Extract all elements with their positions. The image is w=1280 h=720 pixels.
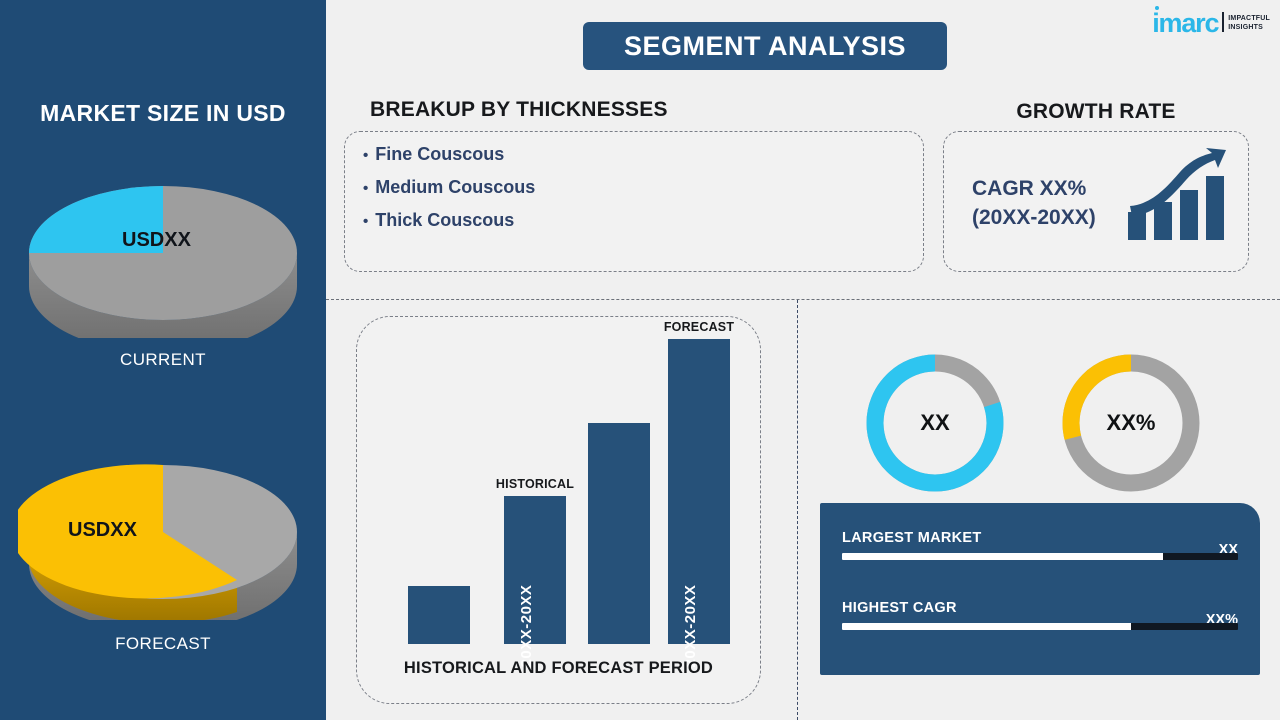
units-donut-label: XX: [860, 348, 1010, 498]
list-item-label: Medium Couscous: [375, 177, 535, 197]
market-size-sidebar: MARKET SIZE IN USD USDXX CURRENT: [0, 0, 326, 720]
share-donut: XX%: [1056, 348, 1206, 498]
sidebar-title: MARKET SIZE IN USD: [0, 100, 326, 127]
horizontal-divider: [326, 299, 1280, 300]
share-donut-label: XX%: [1056, 348, 1206, 498]
growth-rate-heading: GROWTH RATE: [941, 100, 1251, 124]
bar-period-label: 20XX-20XX: [518, 585, 535, 668]
stat-label: HIGHEST CAGR: [842, 600, 957, 616]
units-donut: XX: [860, 348, 1010, 498]
vertical-divider: [797, 300, 798, 720]
forecast-pie-caption: FORECAST: [0, 634, 326, 654]
list-item: • Medium Couscous: [363, 177, 535, 199]
breakup-list: • Fine Couscous • Medium Couscous • Thic…: [363, 144, 535, 243]
list-item-label: Fine Couscous: [375, 144, 504, 164]
market-stats-panel: LARGEST MARKET XX HIGHEST CAGR XX%: [820, 503, 1260, 675]
bar-period-label: 20XX-20XX: [682, 585, 699, 668]
bullet-icon: •: [363, 179, 368, 199]
stat-progress-track: [842, 623, 1238, 630]
breakup-heading: BREAKUP BY THICKNESSES: [370, 98, 668, 122]
imarc-logo: imarc IMPACTFUL INSIGHTS: [1152, 12, 1270, 34]
stat-label: LARGEST MARKET: [842, 530, 982, 546]
list-item: • Thick Couscous: [363, 210, 535, 232]
list-item: • Fine Couscous: [363, 144, 535, 166]
bar-3: FORECAST 20XX-20XX: [668, 339, 730, 644]
list-item-label: Thick Couscous: [375, 210, 514, 230]
logo-tagline: IMPACTFUL INSIGHTS: [1228, 14, 1270, 32]
logo-tagline-line2: INSIGHTS: [1228, 23, 1270, 32]
stat-row: HIGHEST CAGR XX%: [842, 599, 1238, 630]
cagr-period: (20XX-20XX): [972, 203, 1096, 232]
growth-arrow-chart-icon: [1122, 146, 1230, 246]
forecast-pie-slice-label: USDXX: [68, 519, 138, 541]
stat-row: LARGEST MARKET XX: [842, 529, 1238, 560]
bar-annotation-forecast: FORECAST: [664, 320, 734, 334]
current-pie-svg: USDXX: [18, 158, 308, 338]
historical-forecast-bar-chart: HISTORICAL 20XX-20XX FORECAST 20XX-20XX …: [356, 316, 761, 704]
stat-progress-fill: [842, 553, 1163, 560]
cagr-text: CAGR XX% (20XX-20XX): [972, 174, 1096, 232]
page-title: SEGMENT ANALYSIS: [583, 22, 947, 70]
bullet-icon: •: [363, 146, 368, 166]
breakup-box: • Fine Couscous • Medium Couscous • Thic…: [344, 131, 924, 272]
cagr-value: CAGR XX%: [972, 174, 1096, 203]
bullet-icon: •: [363, 212, 368, 232]
logo-wordmark: imarc: [1152, 12, 1218, 34]
bar-1: HISTORICAL 20XX-20XX: [504, 496, 566, 644]
bar-0: [408, 586, 470, 644]
bar-annotation-historical: HISTORICAL: [496, 477, 574, 491]
stat-progress-track: [842, 553, 1238, 560]
segment-analysis-content: SEGMENT ANALYSIS imarc IMPACTFUL INSIGHT…: [326, 0, 1280, 720]
stat-progress-fill: [842, 623, 1131, 630]
bar-2: [588, 423, 650, 644]
logo-wordmark-text: imarc: [1152, 8, 1218, 38]
growth-rate-box: CAGR XX% (20XX-20XX): [943, 131, 1249, 272]
current-pie-caption: CURRENT: [0, 350, 326, 370]
current-pie-chart: USDXX CURRENT: [0, 158, 326, 370]
forecast-pie-chart: USDXX FORECAST: [0, 440, 326, 654]
bar-chart-axis-label: HISTORICAL AND FORECAST PERIOD: [356, 659, 761, 678]
forecast-pie-svg: USDXX: [18, 440, 308, 620]
logo-tagline-line1: IMPACTFUL: [1228, 14, 1270, 23]
current-pie-slice-label: USDXX: [122, 229, 192, 251]
logo-divider: [1222, 12, 1224, 32]
